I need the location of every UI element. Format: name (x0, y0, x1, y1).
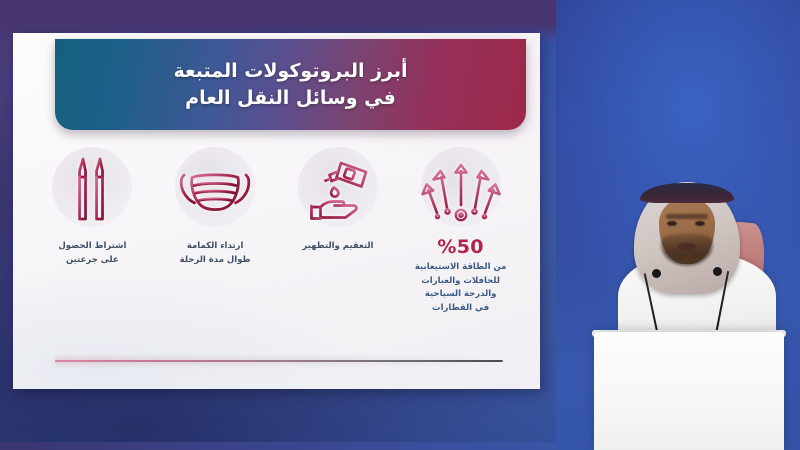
vaccine-ampoules-icon (44, 141, 140, 237)
capacity-arrows-virus-icon (413, 141, 509, 237)
capacity-label-line-4: في القطارات (415, 302, 506, 316)
microphone-head-left (652, 269, 661, 278)
speaker-brow (666, 214, 708, 219)
sanitizing-label-line-1: التعقيم والتطهير (302, 240, 373, 254)
sanitizing-label: التعقيم والتطهير (302, 240, 373, 254)
capacity-label: من الطاقة الاستيعابية للحافلات والعبارات… (415, 261, 506, 316)
capacity-percentage-value: %50 (437, 238, 483, 258)
mask-label-line-1: ارتداء الكمامة (180, 240, 251, 254)
mask-label-line-2: طوال مدة الرحلة (180, 254, 251, 268)
card-title-line-2: في وسائل النقل العام (185, 87, 396, 109)
infographic-card: أبرز البروتوكولات المتبعة في وسائل النقل… (13, 33, 540, 389)
speaker-eye-left (667, 221, 677, 226)
microphone-head-right (713, 267, 722, 276)
protocol-item-capacity: %50 من الطاقة الاستيعابية للحافلات والعب… (399, 141, 522, 316)
vaccine-label-line-1: اشتراط الحصول (58, 240, 126, 254)
broadcast-screen: أبرز البروتوكولات المتبعة في وسائل النقل… (0, 0, 800, 450)
podium (594, 332, 784, 450)
protocol-item-sanitizing: التعقيم والتطهير (277, 141, 400, 254)
mask-label: ارتداء الكمامة طوال مدة الرحلة (180, 240, 251, 268)
face-mask-icon (167, 141, 263, 237)
protocol-items-row: %50 من الطاقة الاستيعابية للحافلات والعب… (23, 141, 530, 316)
card-title-banner: أبرز البروتوكولات المتبعة في وسائل النقل… (55, 39, 526, 130)
protocol-item-mask: ارتداء الكمامة طوال مدة الرحلة (154, 141, 277, 268)
protocol-item-vaccine: اشتراط الحصول على جرعتين (31, 141, 154, 268)
vaccine-label-line-2: على جرعتين (58, 254, 126, 268)
vaccine-label: اشتراط الحصول على جرعتين (58, 240, 126, 268)
hand-sanitizer-icon (290, 141, 386, 237)
speaker-eye-right (695, 221, 705, 226)
speaker-mouth (678, 243, 696, 250)
capacity-label-line-2: للحافلات والعبارات (415, 275, 506, 289)
speaker-video-region (556, 0, 800, 450)
capacity-label-line-1: من الطاقة الاستيعابية (415, 261, 506, 275)
capacity-label-line-3: والدرجة السياحية (415, 288, 506, 302)
card-title-line-1: أبرز البروتوكولات المتبعة (173, 60, 407, 82)
card-bottom-divider (55, 360, 503, 362)
